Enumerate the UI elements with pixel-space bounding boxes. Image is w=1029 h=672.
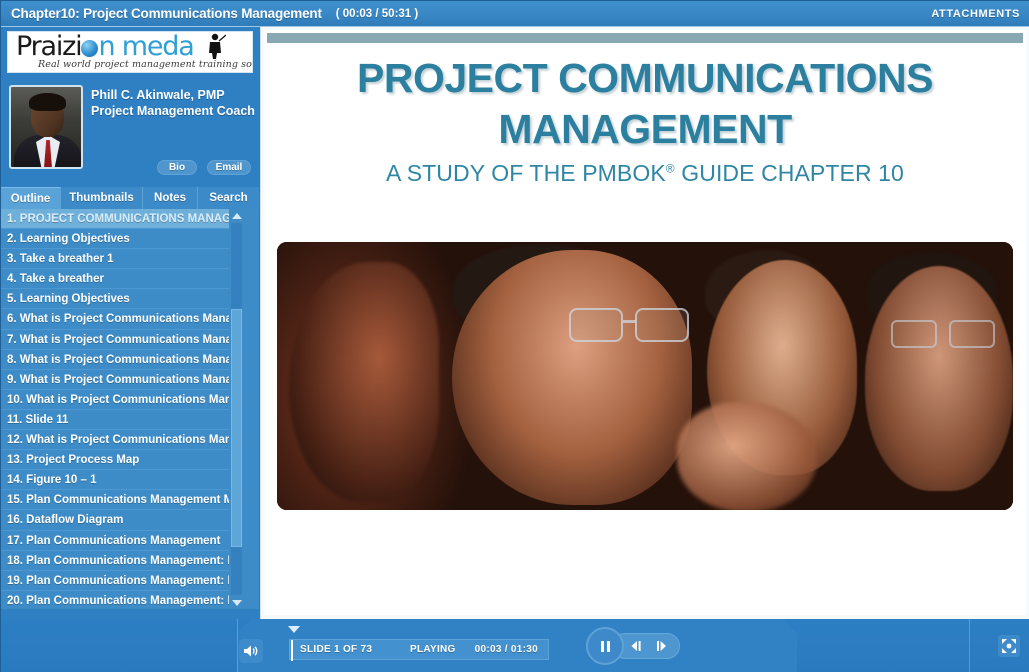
fullscreen-icon	[1001, 638, 1017, 654]
outline-item[interactable]: 15. Plan Communications Management Manag…	[1, 490, 244, 510]
subtitle-suffix: GUIDE CHAPTER 10	[675, 160, 904, 186]
slide-title-line2: MANAGEMENT	[498, 106, 791, 152]
outline-item[interactable]: 8. What is Project Communications Manage…	[1, 350, 244, 370]
title-bar: Chapter10: Project Communications Manage…	[1, 1, 1029, 27]
eyeglasses-icon	[569, 308, 701, 344]
outline-item[interactable]: 13. Project Process Map	[1, 450, 244, 470]
outline-item[interactable]: 4. Take a breather	[1, 269, 244, 289]
slide-subtitle: A STUDY OF THE PMBOK® GUIDE CHAPTER 10	[264, 160, 1026, 187]
logo-wordmark: Praizin meda	[16, 33, 194, 60]
playhead-marker-icon[interactable]	[288, 626, 300, 633]
photo-person-main	[452, 250, 692, 505]
brand-logo: Praizin meda Real world project manageme…	[7, 31, 253, 73]
outline-panel: 1. PROJECT COMMUNICATIONS MANAGEMENT2. L…	[1, 209, 259, 609]
slide-title-line1: PROJECT COMMUNICATIONS	[357, 55, 933, 101]
presenter-avatar	[9, 85, 83, 169]
chapter-title: Chapter10: Project Communications Manage…	[11, 6, 322, 21]
avatar-hair	[29, 93, 66, 111]
presenter-role: Project Management Coach	[91, 103, 255, 119]
playback-divider-right	[969, 619, 970, 672]
logo-text-nmed: n med	[98, 31, 178, 62]
bio-button[interactable]: Bio	[157, 160, 197, 175]
tab-search[interactable]: Search	[198, 187, 259, 209]
logo-tagline: Real world project management training s…	[38, 59, 253, 70]
presenter-name: Phill C. Akinwale, PMP	[91, 87, 225, 103]
outline-item[interactable]: 12. What is Project Communications Manag…	[1, 430, 244, 450]
registered-mark: ®	[666, 161, 675, 175]
outline-item[interactable]: 7. What is Project Communications Manage…	[1, 330, 244, 350]
volume-button[interactable]	[239, 639, 263, 663]
next-button[interactable]	[652, 638, 670, 654]
previous-icon	[630, 640, 644, 652]
slide-photo: Praizin meda Real world project manageme…	[277, 242, 1013, 510]
logo-text-a: a	[178, 31, 193, 62]
tab-thumbnails[interactable]: Thumbnails	[61, 187, 143, 209]
previous-button[interactable]	[628, 638, 646, 654]
transport-controls	[586, 627, 682, 665]
course-time: ( 00:03 / 50:31 )	[336, 8, 418, 20]
email-button[interactable]: Email	[207, 160, 251, 175]
pause-button[interactable]	[586, 627, 624, 665]
slide-accent-bar	[267, 33, 1023, 43]
outline-item[interactable]: 2. Learning Objectives	[1, 229, 244, 249]
subtitle-text: A STUDY OF THE PMBOK	[386, 160, 666, 186]
outline-item[interactable]: 6. What is Project Communications Manage…	[1, 309, 244, 329]
outline-item[interactable]: 1. PROJECT COMMUNICATIONS MANAGEMENT	[1, 209, 244, 229]
tab-outline[interactable]: Outline	[1, 187, 61, 209]
playhead-cursor	[291, 640, 293, 661]
next-icon	[654, 640, 668, 652]
slide-counter: SLIDE 1 OF 73	[300, 644, 372, 655]
scroll-up-icon[interactable]	[229, 209, 244, 222]
fullscreen-button[interactable]	[998, 635, 1020, 657]
sidebar: Praizin meda Real world project manageme…	[1, 27, 259, 619]
outline-item[interactable]: 14. Figure 10 – 1	[1, 470, 244, 490]
speaker-icon	[243, 644, 259, 658]
eyeglasses-right-icon	[891, 320, 1001, 350]
scrollbar-thumb[interactable]	[231, 309, 242, 547]
outline-item[interactable]: 10. What is Project Communications Manag…	[1, 390, 244, 410]
outline-item[interactable]: 18. Plan Communications Management: Inpu…	[1, 551, 244, 571]
outline-item[interactable]: 17. Plan Communications Management	[1, 531, 244, 551]
globe-icon	[81, 40, 98, 57]
person-silhouette-icon	[206, 33, 226, 59]
pause-icon	[601, 641, 610, 652]
tab-notes[interactable]: Notes	[143, 187, 198, 209]
slide-canvas: PROJECT COMMUNICATIONS MANAGEMENT A STUD…	[264, 30, 1026, 615]
slide-stage: PROJECT COMMUNICATIONS MANAGEMENT A STUD…	[260, 27, 1029, 619]
outline-item[interactable]: 11. Slide 11	[1, 410, 244, 430]
seek-bar[interactable]: SLIDE 1 OF 73 PLAYING 00:03 / 01:30	[289, 639, 549, 660]
playback-divider-left	[237, 619, 238, 672]
playback-time: 00:03 / 01:30	[475, 644, 538, 655]
outline-scrollbar[interactable]	[229, 209, 244, 609]
scroll-down-icon[interactable]	[229, 596, 244, 609]
attachments-button[interactable]: ATTACHMENTS	[931, 8, 1020, 20]
sidebar-tabs: Outline Thumbnails Notes Search	[1, 187, 259, 209]
outline-item[interactable]: 16. Dataflow Diagram	[1, 510, 244, 530]
outline-item[interactable]: 5. Learning Objectives	[1, 289, 244, 309]
outline-item[interactable]: 20. Plan Communications Management: Inpu…	[1, 591, 244, 609]
outline-list: 1. PROJECT COMMUNICATIONS MANAGEMENT2. L…	[1, 209, 244, 609]
photo-person-left	[289, 262, 439, 502]
photo-person-right	[865, 266, 1013, 491]
outline-item[interactable]: 3. Take a breather 1	[1, 249, 244, 269]
play-state-label: PLAYING	[410, 644, 456, 655]
outline-item[interactable]: 19. Plan Communications Management: Inpu…	[1, 571, 244, 591]
slide-title: PROJECT COMMUNICATIONS MANAGEMENT	[264, 53, 1026, 155]
presentation-player: Chapter10: Project Communications Manage…	[0, 0, 1029, 672]
outline-item[interactable]: 9. What is Project Communications Manage…	[1, 370, 244, 390]
logo-text-praizi: Praizi	[16, 31, 81, 62]
